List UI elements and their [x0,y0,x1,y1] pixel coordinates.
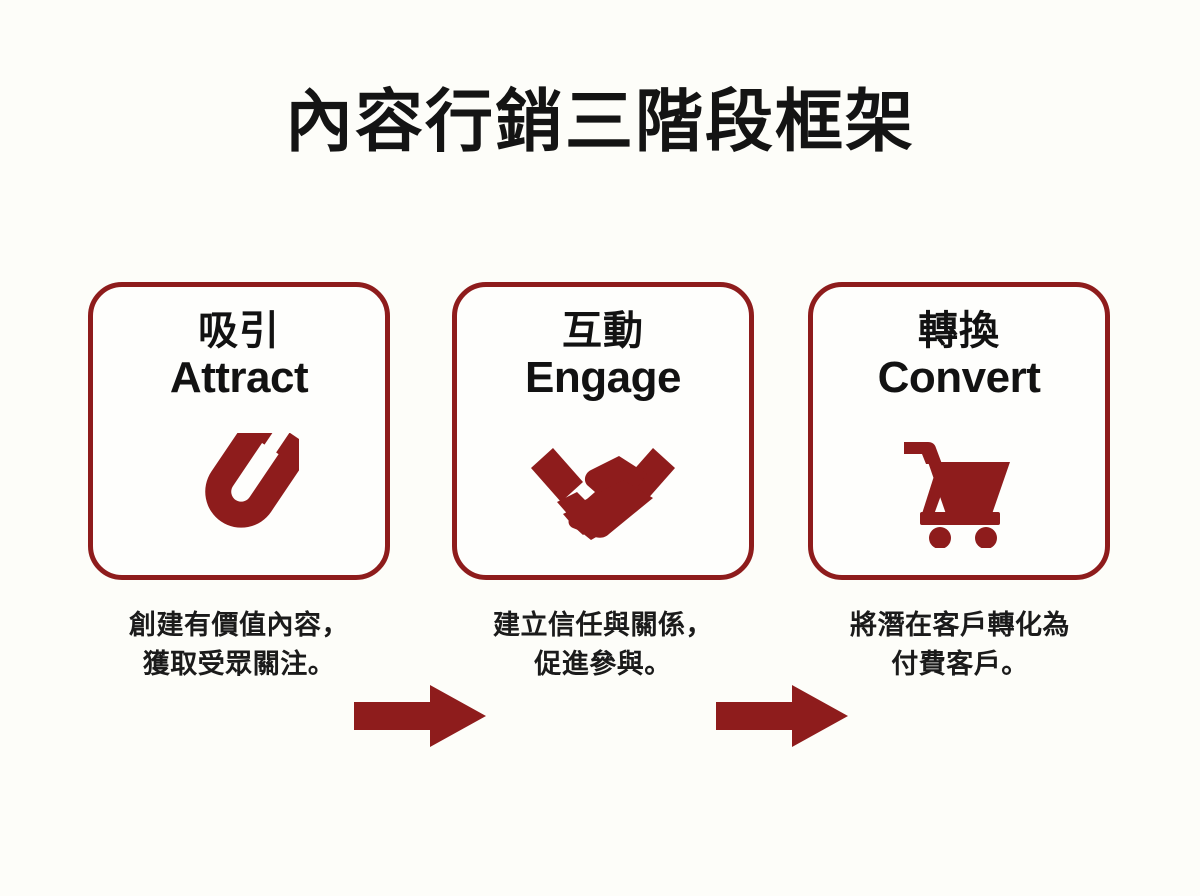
caption-row: 創建有價值內容， 獲取受眾關注。 建立信任與關係， 促進參與。 將潛在客戶轉化為… [0,606,1200,716]
caption-line: 付費客戶。 [795,645,1125,684]
caption-line: 獲取受眾關注。 [74,645,404,684]
stage-label-en: Engage [457,354,749,402]
stage-label-cn: 轉換 [813,309,1105,354]
stage-caption-engage: 建立信任與關係， 促進參與。 [438,606,768,685]
stage-card-engage[interactable]: 互動 Engage [452,282,754,580]
stage-card-labels: 吸引 Attract [93,309,385,401]
caption-line: 創建有價值內容， [74,606,404,645]
stage-label-cn: 吸引 [93,309,385,354]
stage-label-cn: 互動 [457,309,749,354]
page-title: 內容行銷三階段框架 [0,88,1200,156]
shopping-cart-icon [813,431,1105,553]
stage-label-en: Convert [813,354,1105,402]
caption-line: 建立信任與關係， [438,606,768,645]
caption-line: 促進參與。 [438,645,768,684]
stage-label-en: Attract [93,354,385,402]
stage-card-labels: 轉換 Convert [813,309,1105,401]
stage-caption-attract: 創建有價值內容， 獲取受眾關注。 [74,606,404,685]
stage-card-convert[interactable]: 轉換 Convert [808,282,1110,580]
diagram-canvas: 內容行銷三階段框架 吸引 Attract [0,0,1200,896]
magnet-icon [93,431,385,553]
stage-caption-convert: 將潛在客戶轉化為 付費客戶。 [795,606,1125,685]
caption-line: 將潛在客戶轉化為 [795,606,1125,645]
stage-card-labels: 互動 Engage [457,309,749,401]
stage-card-attract[interactable]: 吸引 Attract [88,282,390,580]
handshake-icon [457,431,749,553]
stage-card-row: 吸引 Attract 互動 Engage [0,282,1200,582]
